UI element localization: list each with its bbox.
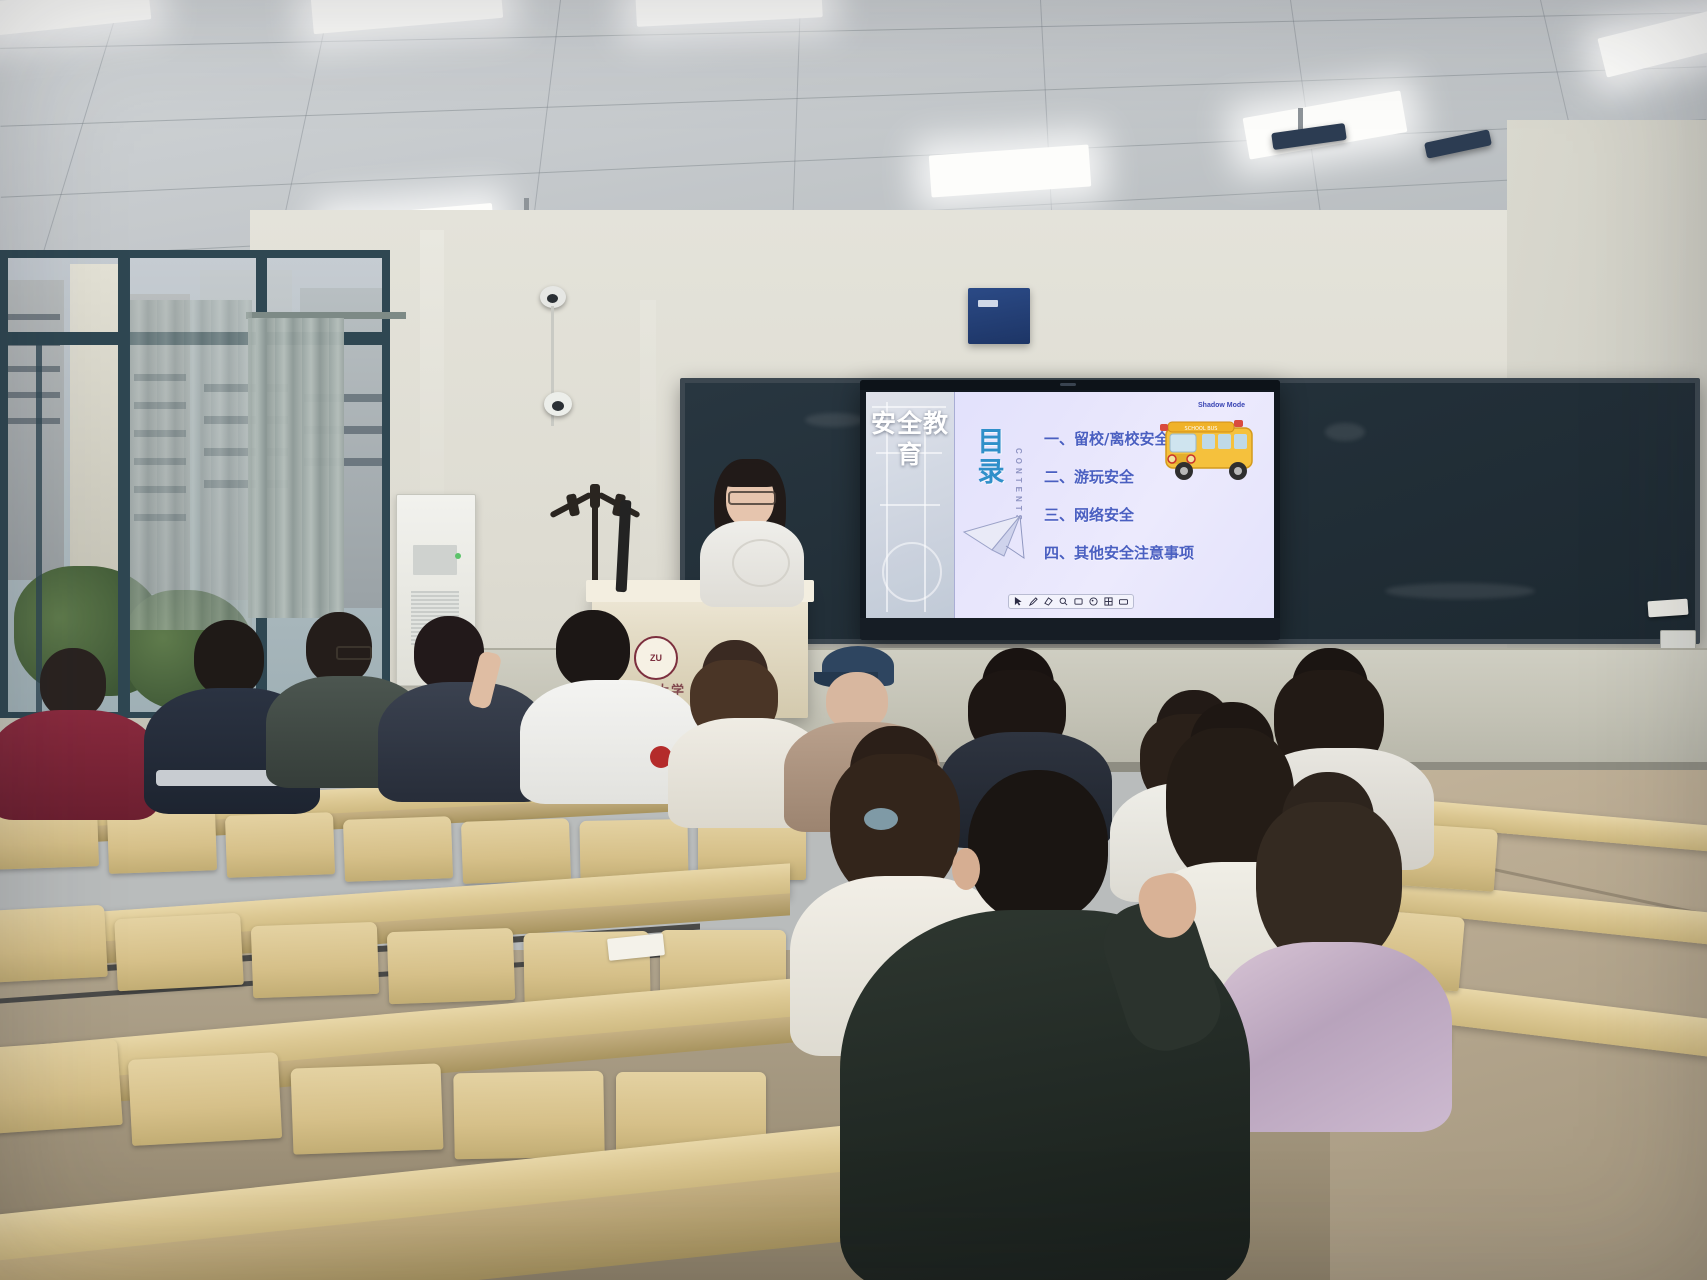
classroom-photo: 安全教育 目录 CONTENTS 一、留校/离校安全 二、游玩安全 三、网络安全… bbox=[0, 0, 1707, 1280]
presenter-hair-front bbox=[722, 463, 778, 487]
svg-text:SCHOOL BUS: SCHOOL BUS bbox=[1185, 426, 1218, 432]
presenter bbox=[692, 455, 822, 605]
eraser-icon[interactable] bbox=[1044, 597, 1053, 606]
wall-security-camera bbox=[540, 286, 566, 308]
cabinet-display-panel bbox=[413, 545, 457, 575]
cursor-icon[interactable] bbox=[1014, 597, 1023, 606]
student bbox=[864, 770, 1224, 1280]
slide-heading: 目录 bbox=[974, 428, 1008, 488]
cabinet-led bbox=[455, 553, 461, 559]
keyboard-icon[interactable] bbox=[1119, 597, 1128, 606]
seat[interactable] bbox=[453, 1071, 604, 1160]
window-curtain[interactable] bbox=[130, 300, 252, 630]
slide-item: 三、网络安全 bbox=[1044, 508, 1194, 523]
wall-control-panel bbox=[968, 288, 1030, 344]
interactive-smartboard[interactable]: 安全教育 目录 CONTENTS 一、留校/离校安全 二、游玩安全 三、网络安全… bbox=[860, 380, 1280, 640]
seat[interactable] bbox=[225, 812, 335, 878]
wall-control-panel-light bbox=[978, 300, 998, 307]
student bbox=[0, 648, 150, 808]
blackboard-eraser[interactable] bbox=[1647, 599, 1688, 618]
wall-security-camera bbox=[544, 392, 572, 416]
grid-icon[interactable] bbox=[1104, 597, 1113, 606]
seat[interactable] bbox=[387, 928, 515, 1004]
smartboard-ir-sensor bbox=[1060, 383, 1076, 386]
seat[interactable] bbox=[128, 1052, 282, 1146]
presenter-shirt-graphic bbox=[732, 539, 790, 587]
magnifier-icon[interactable] bbox=[1059, 597, 1068, 606]
slide-vertical-title: 安全教育 bbox=[870, 408, 950, 470]
paper-plane-graphic bbox=[962, 510, 1034, 570]
student-glasses bbox=[336, 646, 372, 660]
smartboard-screen[interactable]: 安全教育 目录 CONTENTS 一、留校/离校安全 二、游玩安全 三、网络安全… bbox=[866, 392, 1274, 618]
palette-icon[interactable] bbox=[1089, 597, 1098, 606]
seat[interactable] bbox=[114, 913, 244, 991]
window-curtain[interactable] bbox=[248, 318, 344, 618]
seat[interactable] bbox=[461, 818, 571, 884]
smartboard-toolbar[interactable] bbox=[1008, 594, 1134, 609]
student bbox=[1230, 772, 1430, 1072]
screenshot-icon[interactable] bbox=[1074, 597, 1083, 606]
seat[interactable] bbox=[291, 1063, 444, 1154]
speaker-mount-rod bbox=[1298, 108, 1303, 130]
slide-item: 四、其他安全注意事项 bbox=[1044, 546, 1194, 561]
pen-icon[interactable] bbox=[1029, 597, 1038, 606]
seat[interactable] bbox=[0, 905, 108, 983]
seat[interactable] bbox=[0, 1039, 123, 1135]
shadow-mode-label: Shadow Mode bbox=[1198, 402, 1245, 409]
seat[interactable] bbox=[343, 816, 453, 882]
seat[interactable] bbox=[251, 922, 379, 998]
student-ear bbox=[952, 848, 980, 890]
school-bus-graphic: SCHOOL BUS bbox=[1158, 414, 1262, 488]
smartboard-chin bbox=[860, 618, 1280, 640]
presenter-glasses bbox=[728, 491, 776, 505]
